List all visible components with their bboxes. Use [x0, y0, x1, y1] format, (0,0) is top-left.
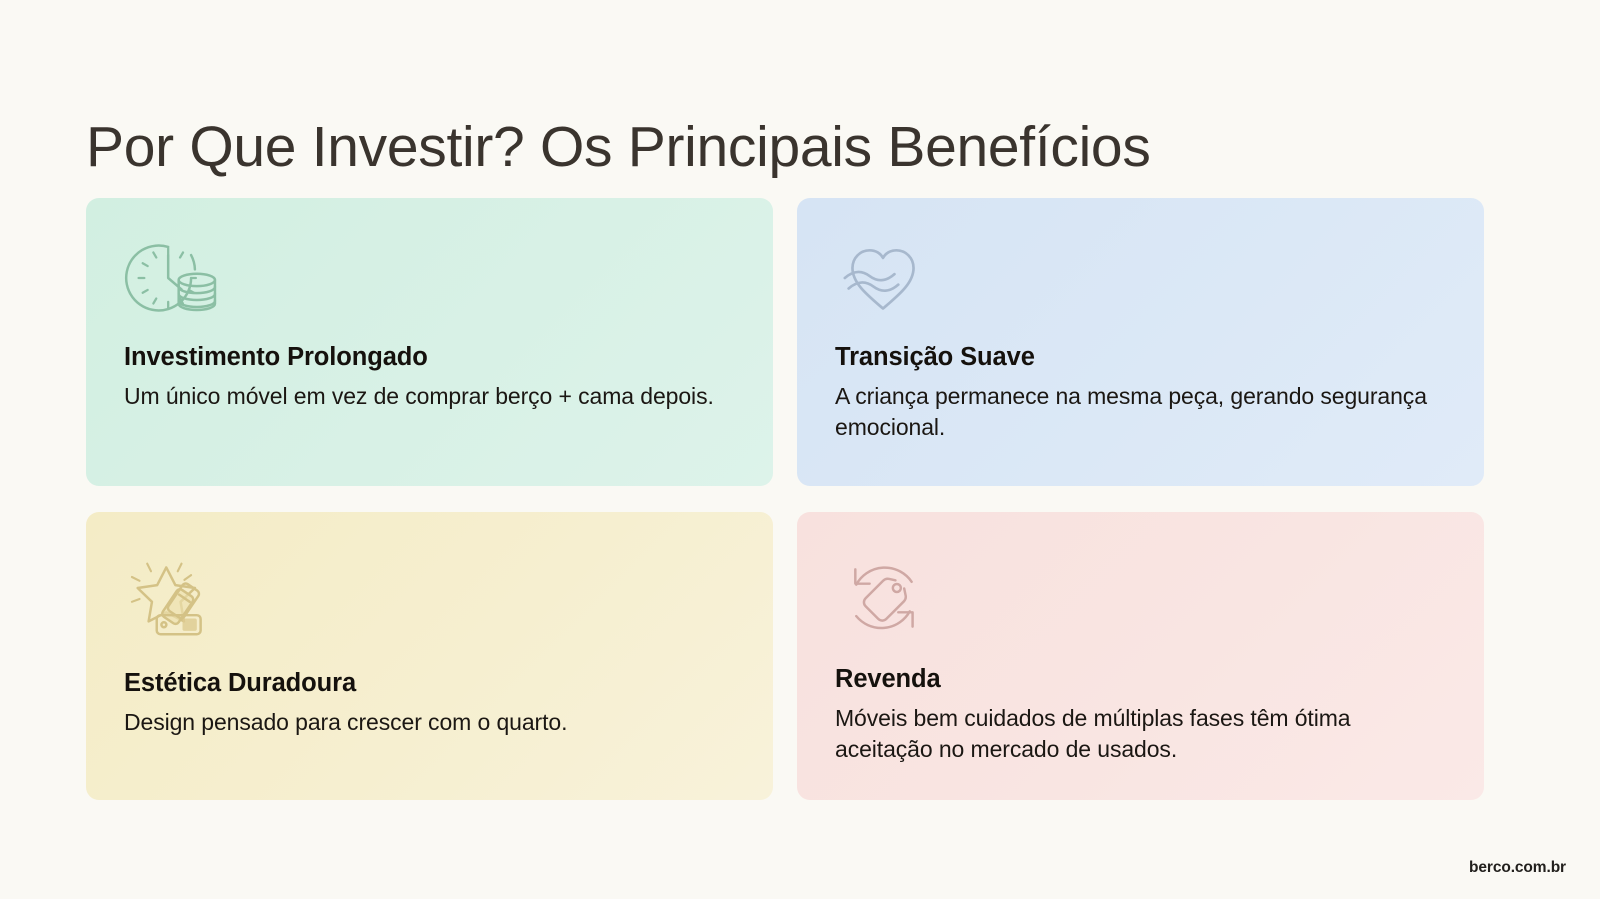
clock-coins-icon — [124, 236, 220, 320]
heart-wave-icon — [835, 236, 931, 320]
benefit-card-title: Investimento Prolongado — [124, 342, 735, 373]
page-title: Por Que Investir? Os Principais Benefíci… — [86, 116, 1151, 179]
slide-root: Por Que Investir? Os Principais Benefíci… — [0, 0, 1600, 899]
benefit-card-estetica-duradoura[interactable]: Estética Duradoura Design pensado para c… — [86, 512, 773, 800]
benefit-card-description: Um único móvel em vez de comprar berço +… — [124, 381, 724, 413]
tag-refresh-icon — [835, 556, 931, 640]
benefit-card-description: Design pensado para crescer com o quarto… — [124, 707, 724, 739]
footer-domain: berco.com.br — [1469, 859, 1566, 877]
benefit-card-revenda[interactable]: Revenda Móveis bem cuidados de múltiplas… — [797, 512, 1484, 800]
star-palette-icon — [124, 556, 220, 640]
benefit-card-title: Estética Duradoura — [124, 668, 735, 699]
benefit-card-transicao-suave[interactable]: Transição Suave A criança permanece na m… — [797, 198, 1484, 486]
benefit-card-title: Transição Suave — [835, 342, 1446, 373]
benefit-card-investimento-prolongado[interactable]: Investimento Prolongado Um único móvel e… — [86, 198, 773, 486]
benefit-card-description: Móveis bem cuidados de múltiplas fases t… — [835, 703, 1435, 766]
benefit-card-title: Revenda — [835, 664, 1446, 695]
benefits-card-grid: Investimento Prolongado Um único móvel e… — [86, 198, 1514, 800]
benefit-card-description: A criança permanece na mesma peça, geran… — [835, 381, 1435, 444]
